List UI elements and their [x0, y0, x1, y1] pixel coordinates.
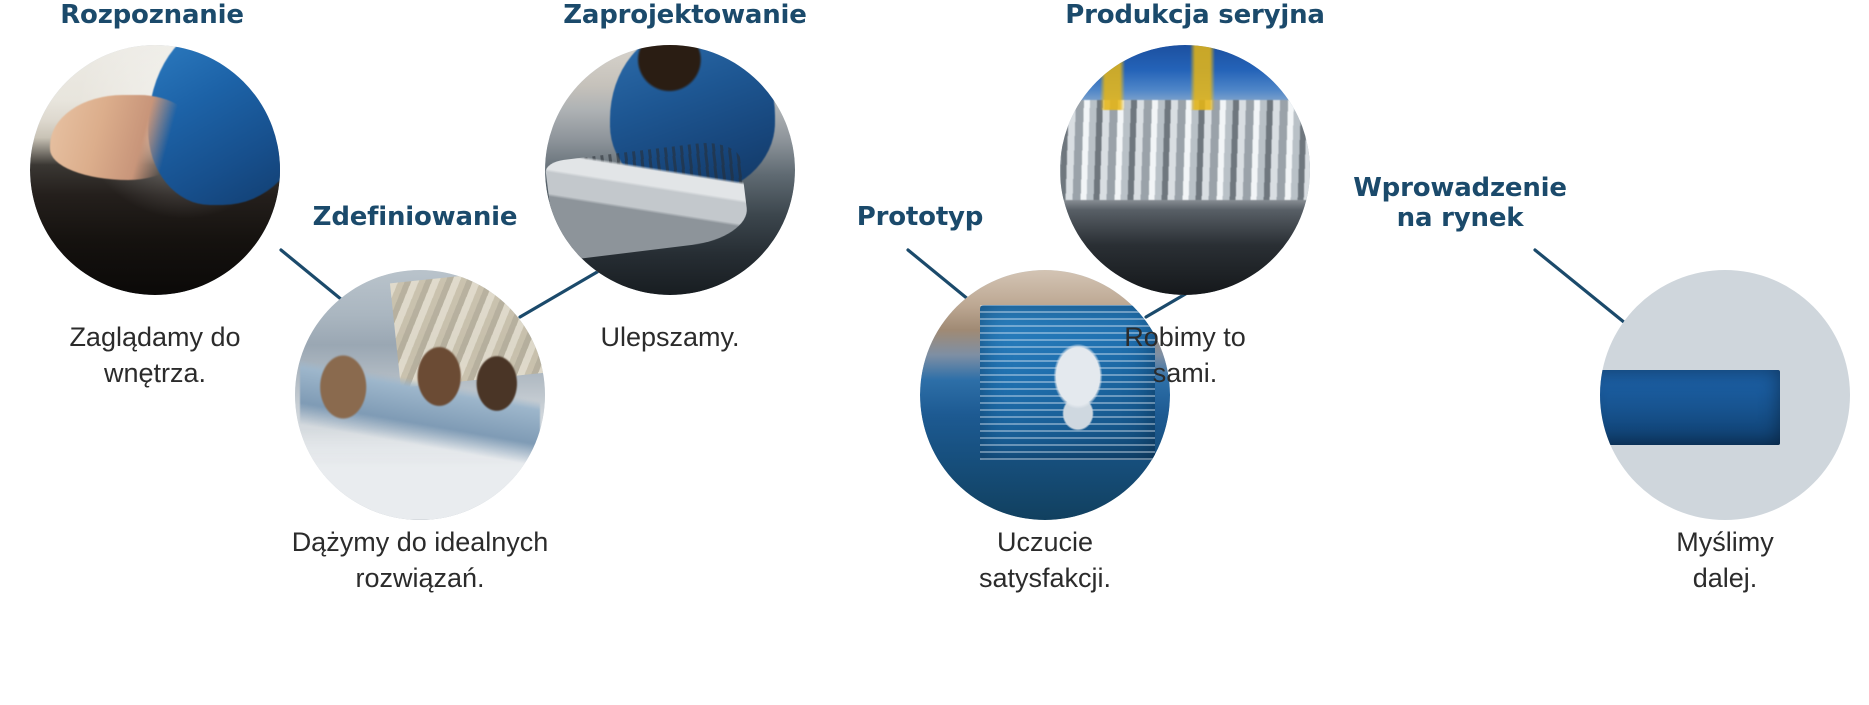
step-caption-rozpoznanie: Zaglądamy do wnętrza. — [20, 320, 290, 392]
step-heading-zdefiniowanie: Zdefiniowanie — [305, 202, 525, 232]
step-circle-zaprojektowanie[interactable] — [545, 45, 795, 295]
step-circle-rozpoznanie[interactable] — [30, 45, 280, 295]
connector-5-6 — [1535, 250, 1630, 327]
photo-team-meeting — [295, 270, 545, 520]
step-circle-prototyp[interactable] — [920, 270, 1170, 520]
step-heading-prototyp: Prototyp — [830, 202, 1010, 232]
step-heading-produkcja-seryjna: Produkcja seryjna — [1050, 0, 1340, 30]
photo-series-production — [1060, 45, 1310, 295]
step-circle-produkcja-seryjna[interactable] — [1060, 45, 1310, 295]
photo-inspection — [30, 45, 280, 295]
step-heading-zaprojektowanie: Zaprojektowanie — [545, 0, 825, 30]
step-caption-zdefiniowanie: Dążymy do idealnych rozwiązań. — [255, 525, 585, 597]
step-caption-produkcja-seryjna: Robimy to sami. — [1055, 320, 1315, 392]
process-infographic: Rozpoznanie Zaglądamy do wnętrza. Zdefin… — [0, 0, 1869, 705]
step-caption-zaprojektowanie: Ulepszamy. — [540, 320, 800, 356]
step-heading-wprowadzenie-na-rynek: Wprowadzenie na rynek — [1330, 173, 1590, 234]
step-heading-rozpoznanie: Rozpoznanie — [32, 0, 272, 30]
step-caption-wprowadzenie-na-rynek: Myślimy dalej. — [1595, 525, 1855, 597]
step-circle-zdefiniowanie[interactable] — [295, 270, 545, 520]
photo-cad-prototype — [920, 270, 1170, 520]
photo-engineer-laptop — [545, 45, 795, 295]
step-circle-wprowadzenie-na-rynek[interactable] — [1600, 270, 1850, 520]
step-caption-prototyp: Uczucie satysfakcji. — [915, 525, 1175, 597]
photo-market-launch — [1600, 270, 1850, 520]
